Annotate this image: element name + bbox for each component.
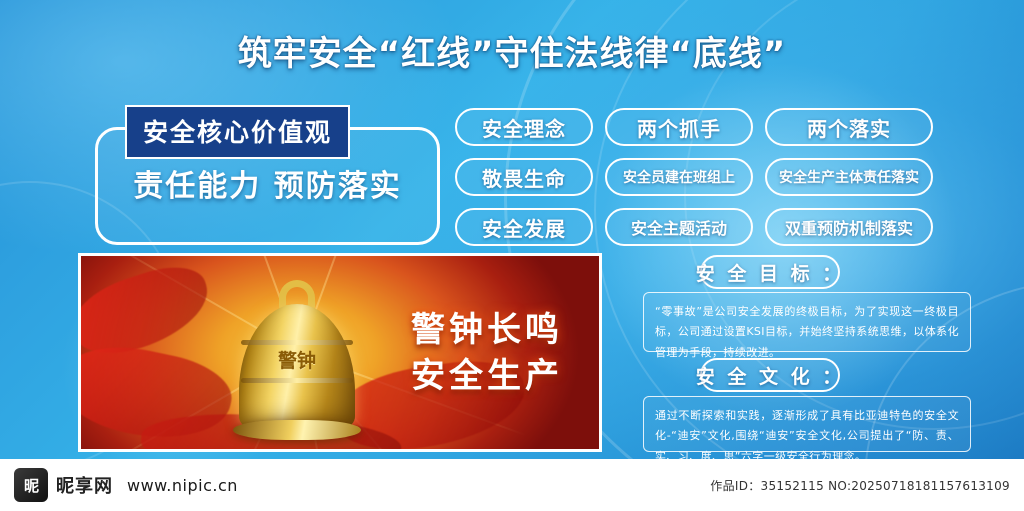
logo-mark-icon: 昵 [14, 468, 48, 502]
site-logo[interactable]: 昵 昵享网 [14, 468, 113, 502]
pill-item[interactable]: 双重预防机制落实 [765, 208, 933, 246]
pill-item[interactable]: 安全主题活动 [605, 208, 753, 246]
pill-item[interactable]: 安全理念 [455, 108, 593, 146]
safety-culture-body: 通过不断探索和实践，逐渐形成了具有比亚迪特色的安全文化-“迪安”文化,围绕“迪安… [643, 396, 971, 452]
pill-item[interactable]: 两个抓手 [605, 108, 753, 146]
pill-item[interactable]: 敬畏生命 [455, 158, 593, 196]
core-values-badge: 安全核心价值观 [125, 105, 350, 159]
site-url[interactable]: www.nipic.cn [127, 476, 238, 495]
pill-item[interactable]: 安全员建在班组上 [605, 158, 753, 196]
bell-band [241, 378, 353, 383]
safety-goal-heading: 安 全 目 标 ： [700, 255, 840, 289]
pill-item[interactable]: 两个落实 [765, 108, 933, 146]
bell-band [241, 340, 353, 345]
core-values-block: 安全核心价值观 责任能力 预防落实 [95, 105, 440, 245]
poster-canvas: 筑牢安全“红线”守住法线律“底线” 安全核心价值观 责任能力 预防落实 安全理念… [0, 0, 1024, 511]
safety-culture-heading: 安 全 文 化 ： [700, 358, 840, 392]
bell-inscription: 警钟 [231, 346, 363, 373]
poster-title: 筑牢安全“红线”守住法线律“底线” [0, 26, 1024, 75]
asset-id-text: 作品ID：35152115 NO:20250718181157613109 [710, 477, 1010, 494]
bell-slogan-line1: 警钟长鸣 [411, 308, 563, 354]
pill-item[interactable]: 安全生产主体责任落实 [765, 158, 933, 196]
bell-slogan-line2: 安全生产 [411, 354, 563, 400]
footer-bar: 昵 昵享网 www.nipic.cn 作品ID：35152115 NO:2025… [0, 459, 1024, 511]
keyword-pill-grid: 安全理念 两个抓手 两个落实 敬畏生命 安全员建在班组上 安全生产主体责任落实 … [455, 108, 933, 246]
bell-slogan: 警钟长鸣 安全生产 [411, 308, 563, 400]
pill-item[interactable]: 安全发展 [455, 208, 593, 246]
bell-rim [233, 420, 361, 440]
golden-bell-icon: 警钟 [231, 274, 363, 442]
logo-text: 昵享网 [56, 472, 113, 498]
safety-goal-body: “零事故”是公司安全发展的终极目标，为了实现这一终极目标，公司通过设置KSI目标… [643, 292, 971, 352]
bell-photo: 警钟 警钟长鸣 安全生产 [78, 253, 602, 452]
core-values-slogan: 责任能力 预防落实 [95, 161, 440, 205]
